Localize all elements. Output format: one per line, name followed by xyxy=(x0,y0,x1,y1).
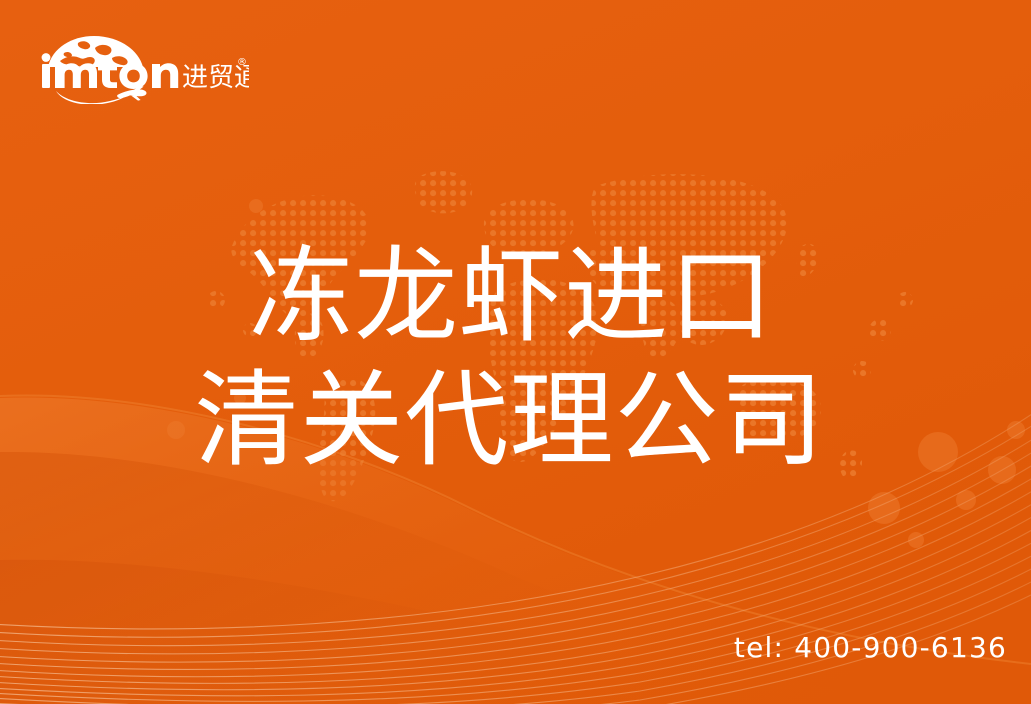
contact-phone[interactable]: tel: 400-900-6136 xyxy=(734,632,1007,664)
svg-text:®: ® xyxy=(237,57,247,68)
brand-logo[interactable]: 进贸通 ® xyxy=(34,34,249,104)
page-title: 冻龙虾进口 清关代理公司 xyxy=(0,234,1031,482)
headline-line-1: 冻龙虾进口 xyxy=(0,234,1031,358)
poster-canvas: 进贸通 ® 冻龙虾进口 清关代理公司 tel: 400-900-6136 xyxy=(0,0,1031,704)
logo-chinese-name: 进贸通 ® xyxy=(182,57,249,93)
headline-line-2: 清关代理公司 xyxy=(0,358,1031,482)
